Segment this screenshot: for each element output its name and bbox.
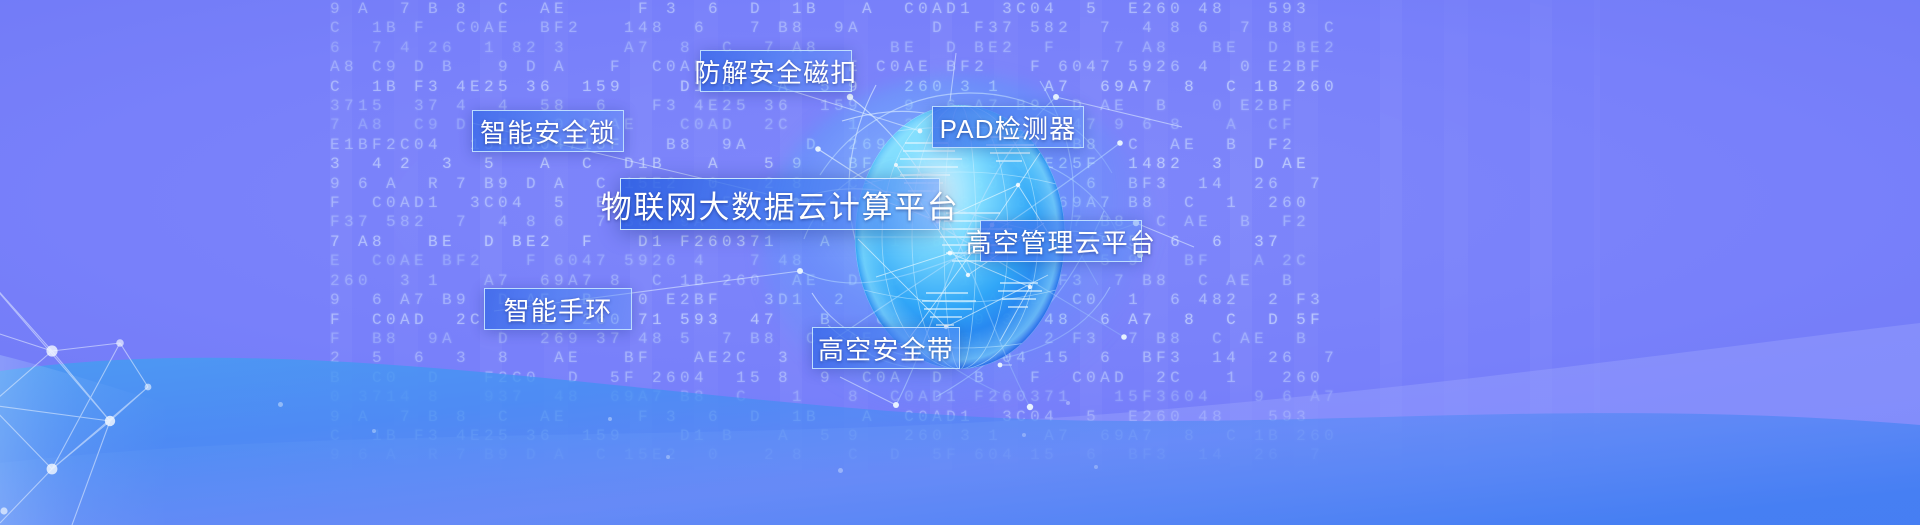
bottom-blue-wave xyxy=(0,275,1920,525)
node-label-pad-detector[interactable]: PAD检测器 xyxy=(932,106,1084,148)
bottom-lilac-wave xyxy=(0,295,1920,525)
hex-row: 9 6 A R 7 B9 D A C 15E2 0 2 8 C D 5F 604… xyxy=(330,175,1600,194)
node-label-aerial-safety-belt[interactable]: 高空安全带 xyxy=(812,327,960,369)
hex-row: 9 A 7 B 8 C AE F 3 6 D 1B A C0AD1 3C04 5… xyxy=(330,0,1600,19)
node-label-smart-wristband[interactable]: 智能手环 xyxy=(484,288,632,330)
sparkle-dot xyxy=(666,455,670,459)
hex-row: C 1B F C0AE BF2 148 6 7 B8 9A D F37 582 … xyxy=(330,19,1600,38)
sparkle-dot xyxy=(608,417,612,421)
hex-row: F B8 9A D 269 37 48 5 7 B8 C AE D E1B 2 … xyxy=(330,330,1600,349)
hex-row: A8 C9 D B 9 D A F C0AD 2C 1 E C0AE BF2 F… xyxy=(330,58,1600,77)
central-platform-label[interactable]: 物联网大数据云计算平台 xyxy=(620,178,940,230)
node-label-aerial-management-cloud[interactable]: 高空管理云平台 xyxy=(980,220,1142,262)
hex-row: F C0AD1 3C04 5 E260 48 593 9 37 48 937 4… xyxy=(330,194,1600,213)
hex-row: C 1B F3 4E25 36 159 D1 B A 5 9 260 3 1 A… xyxy=(330,427,1600,446)
constellation-nodes xyxy=(0,254,151,514)
hex-row: 0 3714 8 937 48 69A7 B8 C 1 8 C0AD1 F260… xyxy=(330,388,1600,407)
sparkle-dot xyxy=(372,429,376,433)
constellation-edges xyxy=(0,259,148,525)
left-glow-wave xyxy=(0,315,1920,525)
lower-left-node-network xyxy=(0,225,290,525)
hex-row: B C0 D F2C0 D 5F 2604 15 8 9 C0A D B F C… xyxy=(330,369,1600,388)
node-label-smart-safety-lock[interactable]: 智能安全锁 xyxy=(472,110,624,152)
sparkle-dot xyxy=(1066,401,1070,405)
sparkle-dot xyxy=(1094,465,1098,469)
hex-row: 2 5 6 3 8 AE BF AE2C 3 9 C D 5F 604 15 6… xyxy=(330,349,1600,368)
hex-row: 3 4 2 3 5 A C D1B A 5 9 BF A 2C 3 0 E25F… xyxy=(330,155,1600,174)
node-label-anti-unlock-magnetic-buckle[interactable]: 防解安全磁扣 xyxy=(700,50,852,92)
sparkle-dot xyxy=(278,402,283,407)
sparkle-dot xyxy=(838,468,843,473)
hex-row: 6 7 4 26 1 82 3 A7 8 C 7 A8 BE D BE2 F 7… xyxy=(330,39,1600,58)
hex-row: 9 6 A R 7 B9 D A C 15E2 0 2 8 C D 5F 604… xyxy=(330,446,1600,465)
hex-row: C 1B F3 4E25 36 159 D1 B A 5 9 260 3 1 A… xyxy=(330,78,1600,97)
iot-platform-banner: 9 A 7 B 8 C AE F 3 6 D 1B A C0AD1 3C04 5… xyxy=(0,0,1920,525)
sparkle-dot xyxy=(1022,433,1026,437)
hex-row: 9 A 7 B 8 C AE F 3 6 D 1B A C0AD1 3C04 5… xyxy=(330,408,1600,427)
